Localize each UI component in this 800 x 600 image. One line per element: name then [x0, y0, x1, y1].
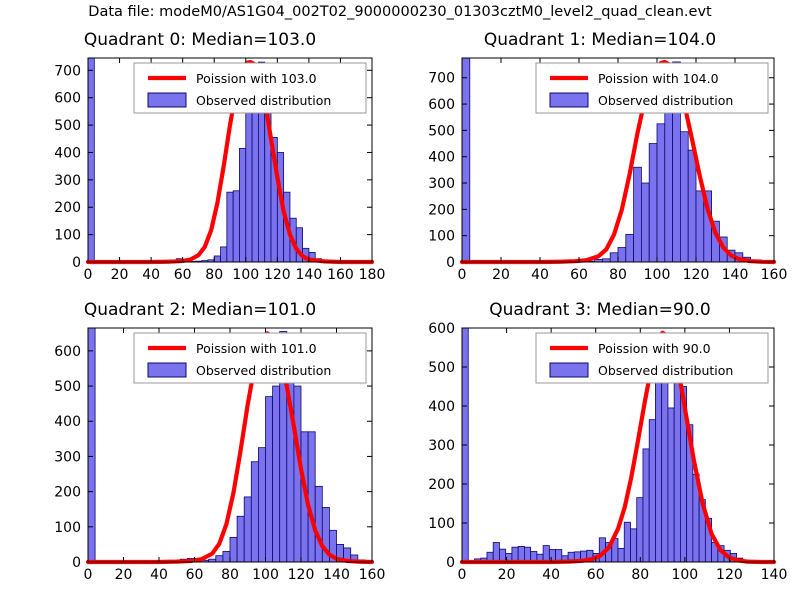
legend-label: Poission with 104.0	[598, 71, 719, 86]
x-tick-label: 140	[722, 267, 749, 283]
histogram-bar	[688, 150, 696, 262]
legend: Poission with 90.0Observed distribution	[536, 333, 768, 383]
histogram-bar	[680, 132, 688, 262]
y-tick-label: 0	[72, 555, 81, 571]
legend-patch-swatch	[550, 93, 588, 107]
y-tick-label: 200	[54, 200, 81, 216]
histogram-bar	[641, 183, 649, 262]
x-tick-label: 140	[761, 567, 788, 583]
legend-label: Poission with 103.0	[196, 71, 317, 86]
histogram-bar	[493, 543, 499, 563]
x-tick-label: 80	[609, 267, 627, 283]
y-tick-label: 0	[446, 255, 455, 271]
x-tick-label: 120	[683, 267, 710, 283]
histogram-bar	[630, 529, 636, 562]
x-tick-label: 180	[359, 267, 386, 283]
histogram-bar	[643, 449, 649, 562]
histogram-bar	[315, 486, 322, 562]
y-tick-label: 400	[428, 150, 455, 166]
y-tick-label: 500	[54, 379, 81, 395]
histogram-bar	[657, 124, 665, 262]
histogram-bar	[665, 109, 673, 262]
y-tick-label: 300	[428, 176, 455, 192]
y-tick-label: 500	[54, 118, 81, 134]
y-tick-label: 300	[54, 173, 81, 189]
subplot-title: Quadrant 1: Median=104.0	[400, 30, 800, 50]
y-tick-label: 600	[428, 321, 455, 337]
x-tick-label: 160	[359, 567, 386, 583]
histogram-bar	[662, 375, 668, 562]
histogram-bar	[462, 58, 470, 262]
histogram-bar	[512, 547, 518, 562]
histogram-bar	[618, 248, 626, 262]
histogram-bar	[649, 420, 655, 562]
x-tick-label: 20	[498, 567, 516, 583]
x-tick-label: 60	[587, 567, 605, 583]
histogram-bar	[251, 462, 258, 562]
x-tick-label: 0	[458, 567, 467, 583]
histogram-bar	[618, 548, 624, 562]
histogram-bar	[227, 192, 233, 262]
histogram-bar	[308, 432, 315, 562]
subplot-title: Quadrant 3: Median=90.0	[400, 300, 800, 320]
histogram-bar	[88, 58, 94, 262]
histogram-bar	[223, 551, 230, 562]
histogram-bar	[610, 253, 618, 262]
x-tick-label: 80	[631, 567, 649, 583]
histogram-bar	[216, 556, 223, 562]
y-tick-label: 200	[54, 485, 81, 501]
plot-area: 0204060801001201400100200300400500600Poi…	[400, 300, 800, 600]
legend-patch-swatch	[550, 363, 588, 377]
legend-patch-swatch	[148, 93, 186, 107]
histogram-bar	[524, 547, 530, 562]
x-tick-label: 60	[174, 267, 192, 283]
y-tick-label: 700	[54, 63, 81, 79]
y-tick-label: 400	[428, 399, 455, 415]
x-tick-label: 40	[542, 567, 560, 583]
y-tick-label: 200	[428, 202, 455, 218]
histogram-bar	[624, 522, 630, 562]
histogram-bar	[518, 546, 524, 562]
histogram-bar	[273, 386, 280, 562]
x-tick-label: 20	[115, 567, 133, 583]
legend: Poission with 101.0Observed distribution	[134, 333, 366, 383]
y-tick-label: 0	[446, 555, 455, 571]
x-tick-label: 140	[323, 567, 350, 583]
histogram-bar	[543, 546, 549, 562]
y-tick-label: 0	[72, 255, 81, 271]
histogram-bar	[655, 379, 661, 562]
subplot-title: Quadrant 0: Median=103.0	[0, 30, 400, 50]
histogram-bar	[252, 105, 258, 262]
figure-suptitle: Data file: modeM0/AS1G04_002T02_90000002…	[0, 4, 800, 20]
legend-label: Observed distribution	[196, 363, 331, 378]
figure-canvas: Data file: modeM0/AS1G04_002T02_90000002…	[0, 0, 800, 600]
y-tick-label: 600	[428, 97, 455, 113]
x-tick-label: 20	[492, 267, 510, 283]
x-tick-label: 160	[761, 267, 788, 283]
y-tick-label: 500	[428, 360, 455, 376]
histogram-bar	[246, 109, 252, 262]
subplot-title: Quadrant 2: Median=101.0	[0, 300, 400, 320]
legend: Poission with 103.0Observed distribution	[134, 63, 366, 113]
x-tick-label: 160	[327, 267, 354, 283]
x-tick-label: 60	[186, 567, 204, 583]
plot-area: 0204060801001201401600100200300400500600…	[0, 300, 400, 600]
y-tick-label: 300	[54, 449, 81, 465]
subplot-quadrant-1: Quadrant 1: Median=104.00204060801001201…	[400, 30, 800, 300]
y-tick-label: 600	[54, 91, 81, 107]
histogram-bar	[258, 448, 265, 562]
x-tick-label: 120	[264, 267, 291, 283]
x-tick-label: 0	[84, 567, 93, 583]
x-tick-label: 100	[252, 567, 279, 583]
y-tick-label: 400	[54, 145, 81, 161]
histogram-bar	[668, 408, 674, 562]
y-tick-label: 400	[54, 414, 81, 430]
y-tick-label: 100	[54, 228, 81, 244]
x-tick-label: 100	[644, 267, 671, 283]
legend-patch-swatch	[148, 363, 186, 377]
plot-area: 0204060801001201401601800100200300400500…	[0, 30, 400, 300]
legend-label: Observed distribution	[196, 93, 331, 108]
x-tick-label: 100	[671, 567, 698, 583]
y-tick-label: 100	[428, 516, 455, 532]
x-tick-label: 100	[232, 267, 259, 283]
x-tick-label: 120	[288, 567, 315, 583]
x-tick-label: 20	[111, 267, 129, 283]
histogram-bar	[230, 537, 237, 562]
y-tick-label: 300	[428, 438, 455, 454]
histogram-bar	[696, 191, 704, 262]
x-tick-label: 140	[296, 267, 323, 283]
plot-area: 0204060801001201401600100200300400500600…	[400, 30, 800, 300]
y-tick-label: 100	[54, 520, 81, 536]
histogram-bar	[239, 148, 245, 262]
y-tick-label: 100	[428, 229, 455, 245]
subplot-quadrant-3: Quadrant 3: Median=90.002040608010012014…	[400, 300, 800, 600]
x-tick-label: 0	[458, 267, 467, 283]
x-tick-label: 60	[570, 267, 588, 283]
subplot-quadrant-0: Quadrant 0: Median=103.00204060801001201…	[0, 30, 400, 300]
histogram-bar	[233, 191, 239, 262]
histogram-bar	[214, 256, 220, 262]
legend-label: Observed distribution	[598, 363, 733, 378]
x-tick-label: 40	[531, 267, 549, 283]
subplot-quadrant-2: Quadrant 2: Median=101.00204060801001201…	[0, 300, 400, 600]
x-tick-label: 40	[142, 267, 160, 283]
x-tick-label: 40	[150, 567, 168, 583]
histogram-bar	[634, 167, 642, 262]
histogram-bar	[649, 144, 657, 262]
x-tick-label: 80	[205, 267, 223, 283]
legend-label: Poission with 101.0	[196, 341, 317, 356]
x-tick-label: 80	[221, 567, 239, 583]
x-tick-label: 120	[716, 567, 743, 583]
histogram-bar	[244, 497, 251, 562]
y-tick-label: 700	[428, 71, 455, 87]
histogram-bar	[266, 397, 273, 562]
legend-label: Poission with 90.0	[598, 341, 711, 356]
histogram-bar	[221, 247, 227, 262]
histogram-bar	[637, 498, 643, 562]
histogram-bar	[626, 234, 634, 262]
y-tick-label: 600	[54, 344, 81, 360]
x-tick-label: 0	[84, 267, 93, 283]
y-tick-label: 200	[428, 477, 455, 493]
y-tick-label: 500	[428, 123, 455, 139]
legend-label: Observed distribution	[598, 93, 733, 108]
histogram-bar	[237, 516, 244, 562]
legend: Poission with 104.0Observed distribution	[536, 63, 768, 113]
